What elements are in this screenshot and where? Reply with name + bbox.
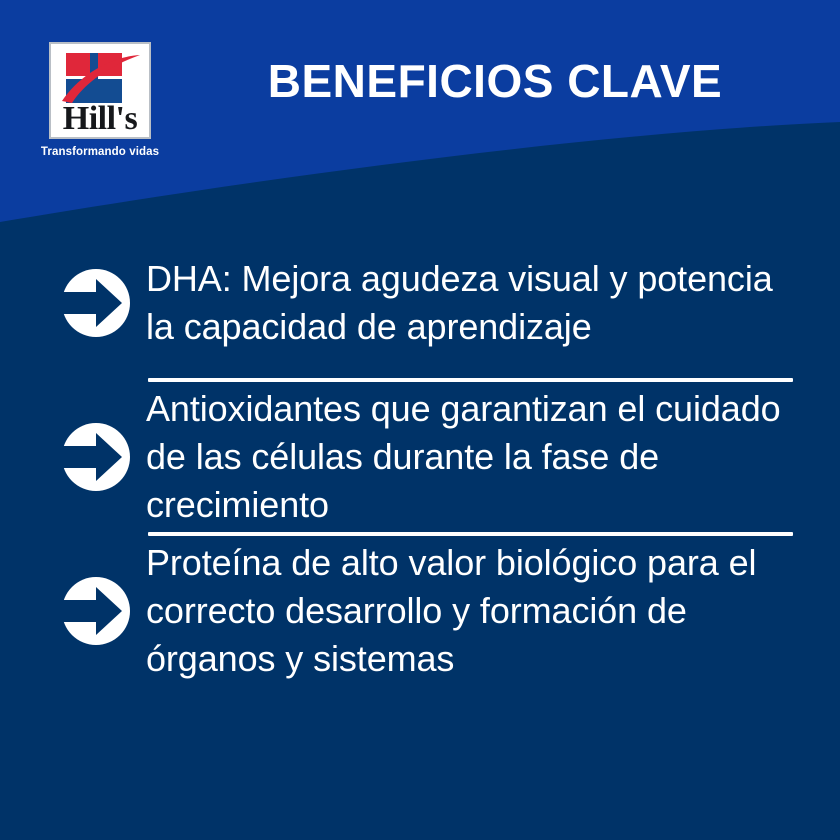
benefit-text: Antioxidantes que garantizan el cuidado … [146,385,794,529]
benefit-text: Proteína de alto valor biológico para el… [146,539,794,683]
page-title: BENEFICIOS CLAVE [190,56,800,106]
benefits-list: DHA: Mejora agudeza visual y potencia la… [0,228,840,686]
logo-wordmark: Hill's [51,100,149,138]
arrow-right-circle-icon [52,266,138,340]
logo-tagline: Transformando vidas [38,146,162,158]
beneficios-clave-poster: Hill's Transformando vidas BENEFICIOS CL… [0,0,840,840]
benefit-item: Proteína de alto valor biológico para el… [0,536,840,686]
hills-logo-mark-icon [60,51,144,103]
logo-tile: Hill's [49,42,151,139]
benefit-text: DHA: Mejora agudeza visual y potencia la… [146,255,794,351]
brand-logo: Hill's Transformando vidas [38,42,162,158]
poster-header: Hill's Transformando vidas BENEFICIOS CL… [0,0,840,160]
benefit-item: Antioxidantes que garantizan el cuidado … [0,382,840,532]
benefit-item: DHA: Mejora agudeza visual y potencia la… [0,228,840,378]
arrow-right-circle-icon [52,420,138,494]
arrow-right-circle-icon [52,574,138,648]
